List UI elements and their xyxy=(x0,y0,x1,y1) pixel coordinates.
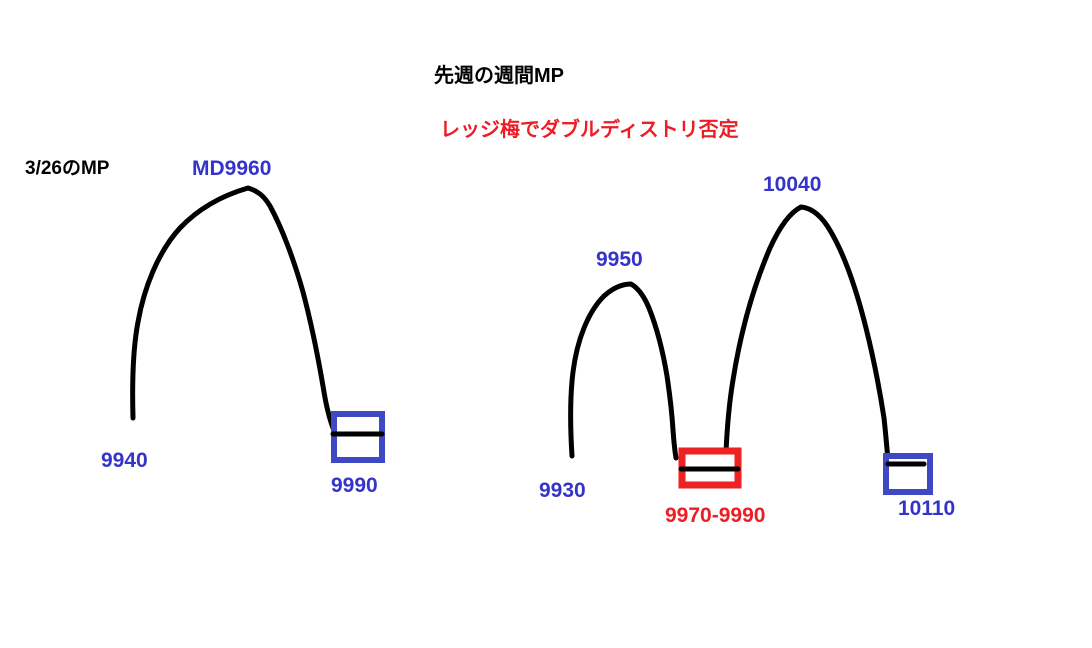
weekly-mp-title: 先週の週間MP xyxy=(434,66,564,86)
right-peak1-label: 9950 xyxy=(596,249,643,270)
right-peak2-label: 10040 xyxy=(763,174,821,195)
right-blue-value-area-box xyxy=(886,456,930,492)
drawing-canvas: 先週の週間MP レッジ梅でダブルディストリ否定 3/26のMP MD9960 9… xyxy=(0,0,1092,648)
red-annotation-note: レッジ梅でダブルディストリ否定 xyxy=(440,120,739,140)
left-distribution-curve xyxy=(133,188,348,436)
right-double-distribution-curve xyxy=(571,284,676,458)
right-low-label: 9930 xyxy=(539,480,586,501)
right-blue-box-label: 10110 xyxy=(898,498,955,519)
left-low-label: 9940 xyxy=(101,450,148,471)
left-chart-title: 3/26のMP xyxy=(25,159,109,178)
hand-drawn-profile-svg xyxy=(0,0,1092,648)
left-box-label: 9990 xyxy=(331,475,378,496)
right-red-box-label: 9970-9990 xyxy=(665,505,765,526)
left-peak-label: MD9960 xyxy=(192,158,271,179)
right-second-leg-curve xyxy=(726,207,888,460)
left-value-area-box xyxy=(334,414,382,460)
